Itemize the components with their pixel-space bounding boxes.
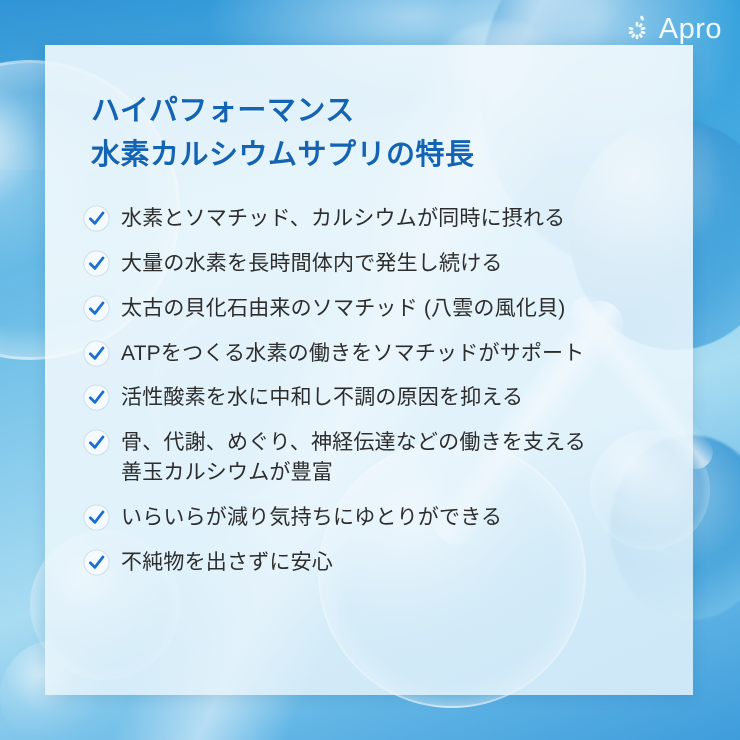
check-circle-icon xyxy=(83,429,110,456)
list-item-label: 太古の貝化石由来のソマチッド (八雲の風化貝) xyxy=(121,293,565,324)
list-item-label: ATPをつくる水素の働きをソマチッドがサポート xyxy=(121,338,584,369)
list-item: ATPをつくる水素の働きをソマチッドがサポート xyxy=(83,338,663,369)
list-item: 太古の貝化石由来のソマチッド (八雲の風化貝) xyxy=(83,293,663,324)
brand-logo: Apro xyxy=(622,14,722,44)
check-circle-icon xyxy=(83,384,110,411)
list-item-sublabel: 善玉カルシウムが豊富 xyxy=(121,458,586,488)
list-item: いらいらが減り気持ちにゆとりができる xyxy=(83,502,663,533)
page-title: ハイパフォーマンス 水素カルシウムサプリの特長 xyxy=(91,89,663,177)
check-circle-icon xyxy=(83,205,110,232)
list-item-label: 不純物を出さずに安心 xyxy=(121,547,333,578)
check-circle-icon xyxy=(83,295,110,322)
list-item-label: 活性酸素を水に中和し不調の原因を抑える xyxy=(121,382,523,413)
promo-banner: Apro ハイパフォーマンス 水素カルシウムサプリの特長 水素とソマチッド、カル… xyxy=(0,0,740,740)
apro-circular-segments-icon xyxy=(622,14,652,44)
page-title-line-1: ハイパフォーマンス xyxy=(91,89,663,133)
features-list: 水素とソマチッド、カルシウムが同時に摂れる 大量の水素を長時間体内で発生し続ける… xyxy=(83,203,663,577)
list-item: 水素とソマチッド、カルシウムが同時に摂れる xyxy=(83,203,663,234)
list-item-label: 大量の水素を長時間体内で発生し続ける xyxy=(121,248,503,279)
list-item: 不純物を出さずに安心 xyxy=(83,547,663,578)
list-item-label: いらいらが減り気持ちにゆとりができる xyxy=(121,502,502,533)
list-item: 骨、代謝、めぐり、神経伝達などの働きを支える 善玉カルシウムが豊富 xyxy=(83,427,663,488)
list-item-label: 骨、代謝、めぐり、神経伝達などの働きを支える xyxy=(121,431,586,454)
list-item-label-group: 骨、代謝、めぐり、神経伝達などの働きを支える 善玉カルシウムが豊富 xyxy=(121,427,586,488)
list-item: 活性酸素を水に中和し不調の原因を抑える xyxy=(83,382,663,413)
brand-name: Apro xyxy=(659,15,722,44)
list-item: 大量の水素を長時間体内で発生し続ける xyxy=(83,248,663,279)
check-circle-icon xyxy=(83,549,110,576)
list-item-label: 水素とソマチッド、カルシウムが同時に摂れる xyxy=(121,203,565,234)
content-panel: ハイパフォーマンス 水素カルシウムサプリの特長 水素とソマチッド、カルシウムが同… xyxy=(45,45,693,695)
check-circle-icon xyxy=(83,340,110,367)
check-circle-icon xyxy=(83,504,110,531)
page-title-line-2: 水素カルシウムサプリの特長 xyxy=(91,133,663,177)
check-circle-icon xyxy=(83,250,110,277)
